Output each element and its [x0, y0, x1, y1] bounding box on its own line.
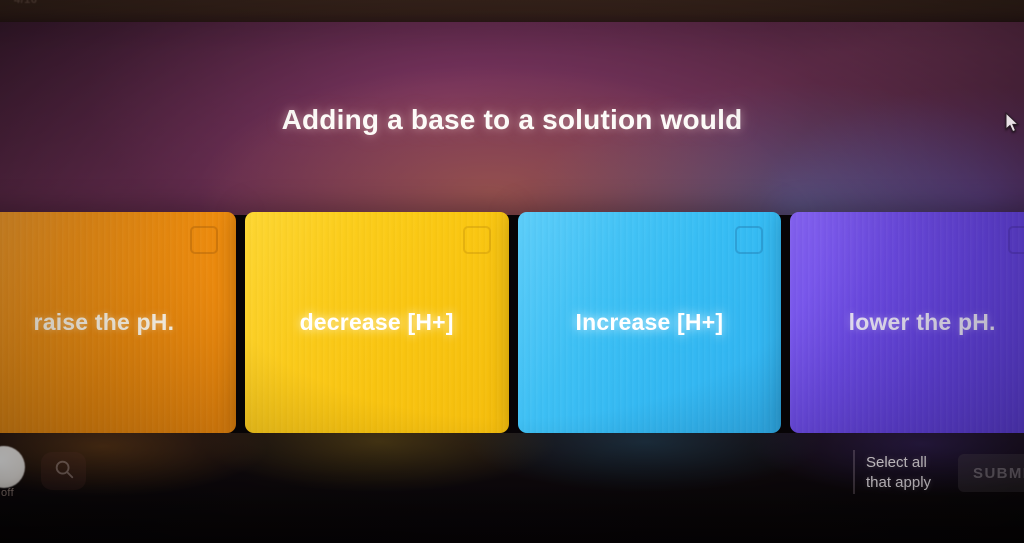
question-text: Adding a base to a solution would — [0, 104, 1024, 136]
select-all-hint: Select all that apply — [866, 453, 958, 493]
status-bar-strip: 4/16 — [0, 0, 1024, 22]
answer-label-blue: Increase [H+] — [576, 309, 724, 336]
answer-checkbox-purple[interactable] — [1008, 226, 1024, 254]
timer-off-label: off — [1, 487, 14, 499]
submit-button-label: SUBMIT — [973, 465, 1024, 482]
answer-card-yellow[interactable]: decrease [H+] — [245, 212, 509, 433]
answer-card-blue[interactable]: Increase [H+] — [518, 212, 782, 433]
arrow-pointer-icon — [1005, 112, 1021, 139]
submit-button[interactable]: SUBMIT — [958, 454, 1024, 492]
answer-label-purple: lower the pH. — [849, 309, 996, 336]
status-bar-text: 4/16 — [14, 0, 37, 6]
answer-card-purple[interactable]: lower the pH. — [790, 212, 1024, 433]
answer-checkbox-blue[interactable] — [735, 226, 763, 254]
select-hint-divider — [853, 450, 855, 494]
quiz-screen: 4/16 Adding a base to a solution would r… — [0, 0, 1024, 543]
answer-label-orange: raise the pH. — [34, 309, 175, 336]
answer-checkbox-orange[interactable] — [190, 226, 218, 254]
answer-label-yellow: decrease [H+] — [300, 309, 454, 336]
select-all-hint-line1: Select all — [866, 453, 958, 473]
answer-card-orange[interactable]: raise the pH. — [0, 212, 236, 433]
select-all-hint-line2: that apply — [866, 473, 958, 493]
magnifier-icon — [53, 458, 75, 485]
answer-options-row: raise the pH. decrease [H+] Increase [H+… — [0, 212, 1024, 433]
answer-checkbox-yellow[interactable] — [463, 226, 491, 254]
zoom-button[interactable] — [41, 452, 86, 490]
